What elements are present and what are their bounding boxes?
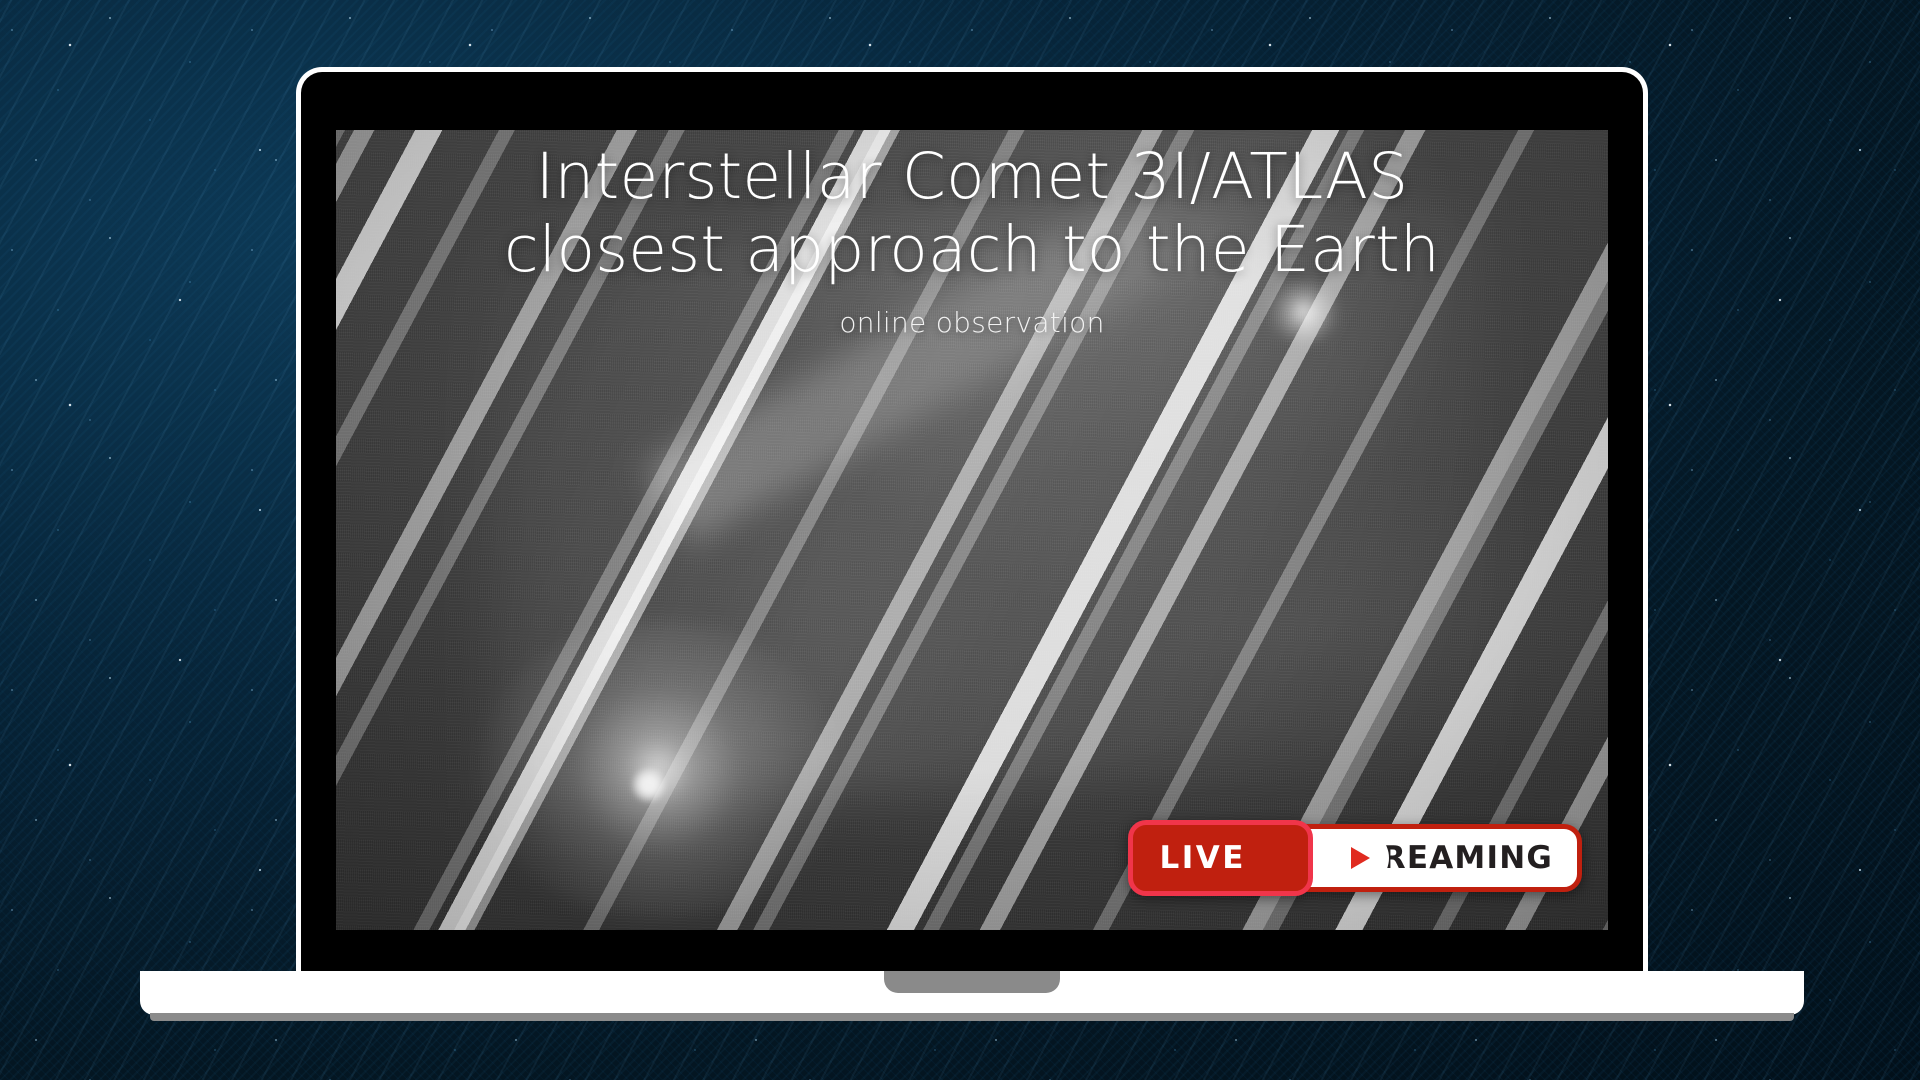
slide-title-line-2: closest approach to the Earth [406, 213, 1538, 286]
laptop-screen[interactable]: Interstellar Comet 3I/ATLAS closest appr… [336, 130, 1608, 930]
slide-text-block: Interstellar Comet 3I/ATLAS closest appr… [336, 140, 1608, 339]
live-streaming-badge-group: LIVE STREAMING [1128, 820, 1582, 896]
screenshot-stage: Interstellar Comet 3I/ATLAS closest appr… [0, 0, 1920, 1080]
play-icon [1331, 829, 1389, 887]
live-streaming-badge[interactable]: LIVE STREAMING [1128, 820, 1582, 896]
laptop-lid-bezel: Interstellar Comet 3I/ATLAS closest appr… [296, 67, 1648, 971]
laptop-device: Interstellar Comet 3I/ATLAS closest appr… [296, 67, 1648, 947]
slide-title-line-1: Interstellar Comet 3I/ATLAS [406, 140, 1538, 213]
play-button[interactable] [1331, 829, 1389, 887]
slide-subtitle: online observation [336, 306, 1608, 339]
live-badge-white-section: STREAMING [1269, 824, 1582, 892]
slide-title: Interstellar Comet 3I/ATLAS closest appr… [336, 140, 1608, 286]
live-label: LIVE [1159, 843, 1245, 874]
laptop-base-shadow [150, 1013, 1794, 1021]
laptop-base-notch [884, 971, 1060, 993]
live-badge-red-section: LIVE [1128, 820, 1312, 896]
